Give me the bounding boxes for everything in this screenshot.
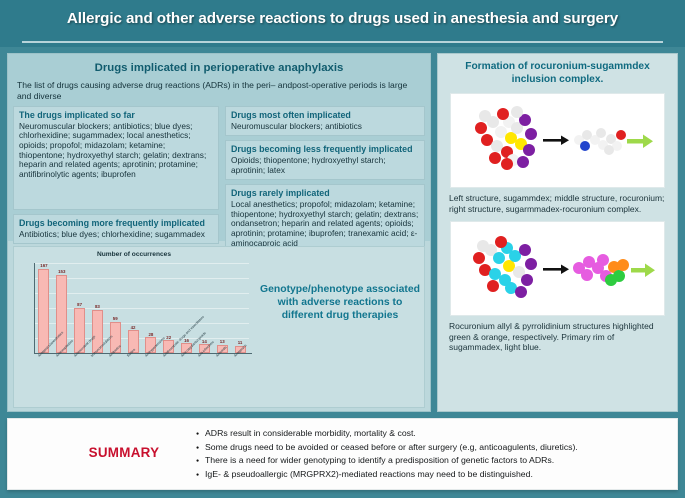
drug-card-body: Opioids; thiopentone; hydroxyethyl starc…	[231, 156, 419, 175]
page-title: Allergic and other adverse reactions to …	[0, 10, 685, 27]
chart-x-tick: Analgesics/anesthetics	[35, 354, 53, 406]
chart-bar-item: 42	[124, 263, 142, 353]
chart-bar-item: 11	[231, 263, 249, 353]
inclusion-complex-title: Formation of rocuronium-sugammdex inclus…	[438, 54, 677, 86]
chart-bar-value: 153	[58, 269, 65, 274]
chart-bar-item: 87	[71, 263, 89, 353]
chart-x-tick: Analgesics	[231, 354, 249, 406]
molecule-figure-bottom	[450, 221, 665, 316]
drug-card-body: Neuromuscular blockers; antibiotics; blu…	[19, 122, 213, 180]
drug-card-heading: Drugs becoming more frequently implicate…	[19, 218, 213, 229]
sugammadex-rocuronium-diagram-icon	[451, 94, 665, 188]
chart-x-tick: Antithrombotic drugs and vasodilators	[160, 354, 178, 406]
chart-x-tick: Antimicrobial drugs	[71, 354, 89, 406]
molecule-caption-bottom: Rocuronium allyl & pyrrolidinium structu…	[438, 316, 677, 353]
summary-bullet: There is a need for wider genotyping to …	[196, 454, 666, 468]
drug-card-body: Neuromuscular blockers; antibiotics	[231, 122, 419, 132]
chart-bar-value: 83	[95, 304, 100, 309]
header-divider	[22, 41, 663, 43]
drug-card-body: Antibiotics; blue dyes; chlorhexidine; s…	[19, 230, 213, 240]
chart-bar-value: 59	[113, 316, 118, 321]
chart-bar-value: 13	[220, 339, 225, 344]
summary-bullet-list: ADRs result in considerable morbidity, m…	[196, 427, 666, 481]
drug-card-implicated-so-far: The drugs implicated so far Neuromuscula…	[13, 106, 219, 210]
drug-card-heading: Drugs most often implicated	[231, 110, 419, 121]
drug-cards-column-left: The drugs implicated so far Neuromuscula…	[13, 106, 219, 257]
bar-chart: 16715387835942282216141311	[34, 263, 249, 353]
drug-card-body: Local anesthetics; propofol; midazolam; …	[231, 200, 419, 249]
chart-bar-value: 167	[40, 263, 47, 268]
genotype-phenotype-text: Genotype/phenotype associated with adver…	[258, 283, 422, 322]
poster-header: Allergic and other adverse reactions to …	[0, 0, 685, 47]
chart-bar-item: 167	[35, 263, 53, 353]
chart-x-tick: Statins	[124, 354, 142, 406]
left-column: Drugs implicated in perioperative anaphy…	[7, 53, 431, 412]
chart-x-tick: Antivirals	[213, 354, 231, 406]
drug-card-more-frequently-implicated: Drugs becoming more frequently implicate…	[13, 214, 219, 244]
chart-bar-value: 42	[131, 325, 136, 330]
perioperative-anaphylaxis-panel: Drugs implicated in perioperative anaphy…	[8, 54, 430, 241]
rocuronium-highlight-diagram-icon	[451, 222, 665, 316]
perioperative-panel-title: Drugs implicated in perioperative anaphy…	[8, 54, 430, 74]
chart-bar-value: 14	[202, 339, 207, 344]
chart-x-tick: Anticoagulants/opioids	[178, 354, 196, 406]
summary-bullet: Some drugs need to be avoided or ceased …	[196, 441, 666, 455]
molecule-figure-top	[450, 93, 665, 188]
poster-root: Allergic and other adverse reactions to …	[0, 0, 685, 498]
chart-bar	[38, 269, 49, 354]
drug-card-heading: Drugs rarely implicated	[231, 188, 419, 199]
drug-cards-column-right: Drugs most often implicated Neuromuscula…	[225, 106, 425, 257]
chart-bar-value: 87	[77, 302, 82, 307]
chart-x-tick: Immunomodulators	[88, 354, 106, 406]
chart-bars: 16715387835942282216141311	[35, 263, 249, 353]
chart-x-tick: Antineoplastics	[53, 354, 71, 406]
drug-card-rarely-implicated: Drugs rarely implicated Local anesthetic…	[225, 184, 425, 253]
drug-card-less-frequently-implicated: Drugs becoming less frequently implicate…	[225, 140, 425, 180]
summary-bullet: ADRs result in considerable morbidity, m…	[196, 427, 666, 441]
chart-x-tick-labels: Analgesics/anestheticsAntineoplasticsAnt…	[35, 354, 249, 406]
drug-cards-grid: The drugs implicated so far Neuromuscula…	[13, 106, 425, 257]
chart-x-tick: Anti-infectives	[195, 354, 213, 406]
chart-x-tick: Antihypertensives	[142, 354, 160, 406]
chart-bar	[56, 275, 67, 354]
chart-bar-value: 16	[184, 338, 189, 343]
drug-card-heading: The drugs implicated so far	[19, 110, 213, 121]
chart-bar-value: 22	[166, 335, 171, 340]
molecule-caption-top: Left structure, sugammdex; middle struct…	[438, 188, 677, 214]
summary-title: SUMMARY	[64, 445, 184, 460]
chart-x-tick: Antibiotics	[106, 354, 124, 406]
chart-bar-value: 11	[238, 340, 243, 345]
chart-bar-item: 28	[142, 263, 160, 353]
summary-bullet: IgE- & pseudoallergic (MRGPRX2)-mediated…	[196, 468, 666, 482]
perioperative-panel-subtitle: The list of drugs causing adverse drug r…	[8, 74, 430, 107]
chart-bar-value: 28	[148, 332, 153, 337]
summary-panel: SUMMARY ADRs result in considerable morb…	[7, 418, 678, 490]
drug-card-heading: Drugs becoming less frequently implicate…	[231, 144, 419, 155]
chart-title: Number of occurrences	[14, 251, 254, 258]
chart-bar-item: 13	[213, 263, 231, 353]
chart-panel: Number of occurrences 167153878359422822…	[13, 246, 425, 408]
drug-card-most-often-implicated: Drugs most often implicated Neuromuscula…	[225, 106, 425, 136]
right-column: Formation of rocuronium-sugammdex inclus…	[437, 53, 678, 412]
